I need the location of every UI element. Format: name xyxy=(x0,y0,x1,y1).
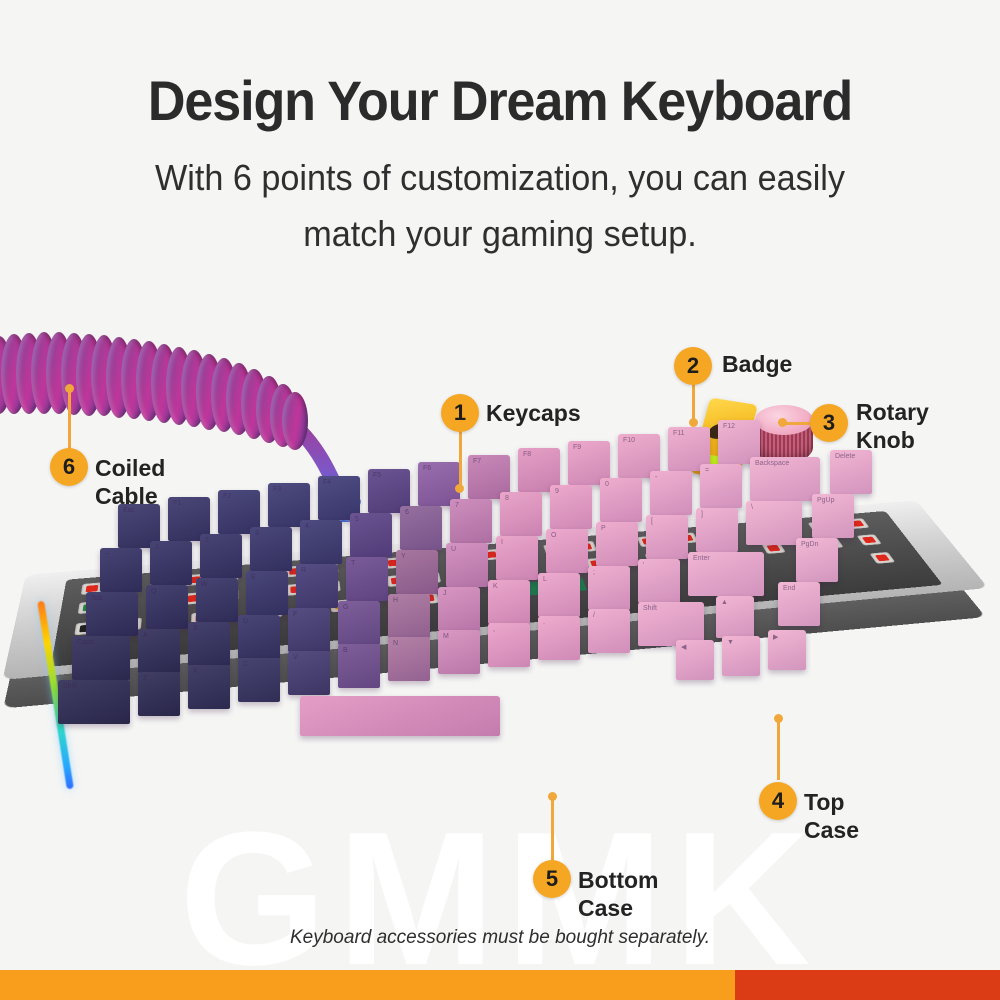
callout-6-anchor-dot xyxy=(65,384,74,393)
callout-4-leader-line xyxy=(777,718,780,780)
callout-1-leader-line xyxy=(459,428,462,488)
callout-3-number: 3 xyxy=(810,404,848,442)
callout-5-anchor-dot xyxy=(548,792,557,801)
callout-5-label: Bottom Case xyxy=(578,866,658,922)
callout-2-label: Badge xyxy=(722,350,792,378)
callout-4-anchor-dot xyxy=(774,714,783,723)
footer-brand-bar xyxy=(0,970,1000,1000)
callout-6-leader-line xyxy=(68,388,71,450)
callout-3-anchor-dot xyxy=(778,418,787,427)
callout-5-number: 5 xyxy=(533,860,571,898)
callout-6-number: 6 xyxy=(50,448,88,486)
callout-2-number: 2 xyxy=(674,347,712,385)
footer-bar-red xyxy=(735,970,1000,1000)
callout-2-leader-line xyxy=(692,382,695,422)
callout-4-label: Top Case xyxy=(804,788,859,844)
page-title: Design Your Dream Keyboard xyxy=(35,68,965,133)
callout-3-label: Rotary Knob xyxy=(856,398,929,454)
infographic-canvas: GMMK Design Your Dream Keyboard With 6 p… xyxy=(0,0,1000,1000)
footer-disclaimer: Keyboard accessories must be bought sepa… xyxy=(0,927,1000,949)
callout-2-anchor-dot xyxy=(689,418,698,427)
callout-4-number: 4 xyxy=(759,782,797,820)
callout-1-anchor-dot xyxy=(455,484,464,493)
callout-1-number: 1 xyxy=(441,394,479,432)
callout-6-label: Coiled Cable xyxy=(95,454,165,510)
page-subtitle: With 6 points of customization, you can … xyxy=(149,150,852,262)
callout-1-label: Keycaps xyxy=(486,399,581,427)
footer-bar-orange xyxy=(0,970,735,1000)
callout-5-leader-line xyxy=(551,796,554,860)
